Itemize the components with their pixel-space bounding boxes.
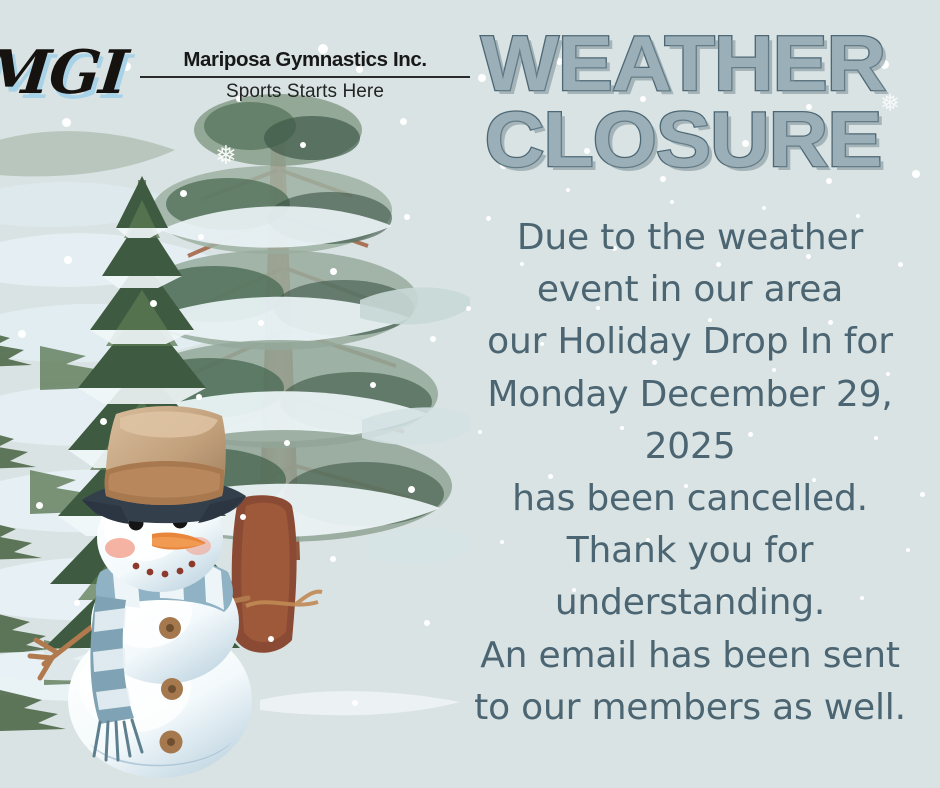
page-title: WEATHER CLOSURE <box>434 26 932 177</box>
brand-name: Mariposa Gymnastics Inc. <box>140 48 470 72</box>
body-line: Monday December 29, <box>440 369 940 421</box>
body-line: understanding. <box>440 577 940 629</box>
brand-tagline: Sports Starts Here <box>140 81 470 103</box>
body-line: Thank you for <box>440 525 940 577</box>
weather-closure-poster: ❅ ❅ MGI Mariposa Gymnastics Inc. Sports … <box>0 0 940 788</box>
headline-line-1: WEATHER <box>481 19 885 107</box>
winter-illustration <box>0 0 470 788</box>
announcement-body: Due to the weather event in our area our… <box>440 212 940 734</box>
body-line: our Holiday Drop In for <box>440 316 940 368</box>
body-line: to our members as well. <box>440 682 940 734</box>
brand-block: Mariposa Gymnastics Inc. Sports Starts H… <box>140 48 470 103</box>
body-line: event in our area <box>440 264 940 316</box>
watercolor-forest-svg <box>0 0 470 788</box>
snowflake-icon: ❅ <box>215 142 237 168</box>
body-line: An email has been sent <box>440 630 940 682</box>
mgi-logo: MGI <box>0 38 130 108</box>
body-line: has been cancelled. <box>440 473 940 525</box>
brand-divider <box>140 76 470 78</box>
body-line: Due to the weather <box>440 212 940 264</box>
body-line: 2025 <box>440 421 940 473</box>
headline-line-2: CLOSURE <box>434 102 932 178</box>
